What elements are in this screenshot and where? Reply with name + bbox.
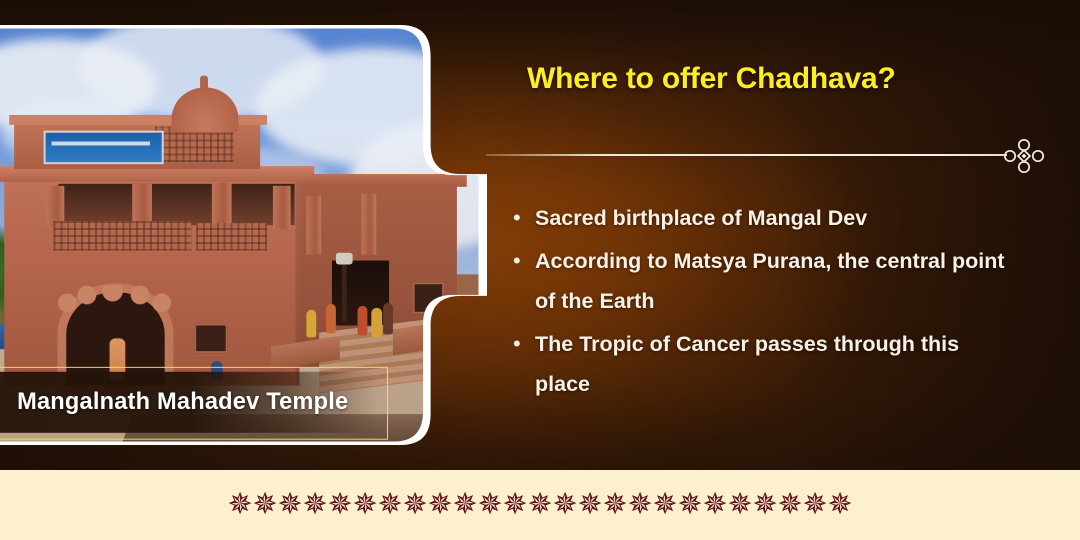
flower-ornament-icon: ✵	[553, 489, 578, 521]
flower-ornament-icon: ✵	[278, 489, 303, 521]
flower-ornament-icon: ✵	[753, 489, 778, 521]
flower-ornament-icon: ✵	[503, 489, 528, 521]
bullet-dot-icon: •	[513, 198, 535, 238]
divider-line	[486, 154, 1007, 156]
bullet-dot-icon: •	[513, 241, 535, 281]
list-item-label: According to Matsya Purana, the central …	[535, 241, 1017, 321]
flower-ornament-icon: ✵	[478, 489, 503, 521]
flower-ornament-icon: ✵	[453, 489, 478, 521]
bullet-list: • Sacred birthplace of Mangal Dev • Acco…	[513, 198, 1043, 407]
flower-ornament-icon: ✵	[228, 489, 253, 521]
flower-ornament-icon: ✵	[703, 489, 728, 521]
photo-caption-bar: Mangalnath Mahadev Temple	[0, 372, 378, 433]
list-item: • Sacred birthplace of Mangal Dev	[513, 198, 1043, 238]
photo-clip-region: Mangalnath Mahadev Temple	[0, 28, 479, 441]
bottom-ornament-band: ✵✵✵✵✵✵✵✵✵✵✵✵✵✵✵✵✵✵✵✵✵✵✵✵✵	[0, 470, 1080, 540]
page-title: Where to offer Chadhava?	[527, 62, 896, 96]
flower-ornament-icon: ✵	[378, 489, 403, 521]
slide-root: Mangalnath Mahadev Temple Where to offer…	[0, 0, 1080, 540]
flower-ornament-icon: ✵	[303, 489, 328, 521]
temple-photograph: Mangalnath Mahadev Temple	[0, 28, 479, 441]
flower-row: ✵✵✵✵✵✵✵✵✵✵✵✵✵✵✵✵✵✵✵✵✵✵✵✵✵	[0, 470, 1080, 540]
flower-ornament-icon: ✵	[578, 489, 603, 521]
list-item-label: Sacred birthplace of Mangal Dev	[535, 198, 867, 238]
flower-ornament-icon: ✵	[678, 489, 703, 521]
flower-ornament-icon: ✵	[528, 489, 553, 521]
flower-ornament-icon: ✵	[778, 489, 803, 521]
photo-caption-text: Mangalnath Mahadev Temple	[17, 389, 348, 417]
flower-ornament-icon: ✵	[403, 489, 428, 521]
flower-ornament-icon: ✵	[603, 489, 628, 521]
flower-ornament-icon: ✵	[728, 489, 753, 521]
temple-photo-panel: Mangalnath Mahadev Temple	[0, 25, 487, 445]
flower-ornament-icon: ✵	[253, 489, 278, 521]
knot-diamond-ornament-icon	[1002, 138, 1046, 174]
flower-ornament-icon: ✵	[353, 489, 378, 521]
flower-ornament-icon: ✵	[628, 489, 653, 521]
flower-ornament-icon: ✵	[828, 489, 853, 521]
flower-ornament-icon: ✵	[653, 489, 678, 521]
list-item: • The Tropic of Cancer passes through th…	[513, 324, 1043, 404]
flower-ornament-icon: ✵	[803, 489, 828, 521]
list-item-label: The Tropic of Cancer passes through this…	[535, 324, 1017, 404]
bullet-dot-icon: •	[513, 324, 535, 364]
list-item: • According to Matsya Purana, the centra…	[513, 241, 1043, 321]
flower-ornament-icon: ✵	[328, 489, 353, 521]
flower-ornament-icon: ✵	[428, 489, 453, 521]
section-divider	[486, 140, 1046, 172]
